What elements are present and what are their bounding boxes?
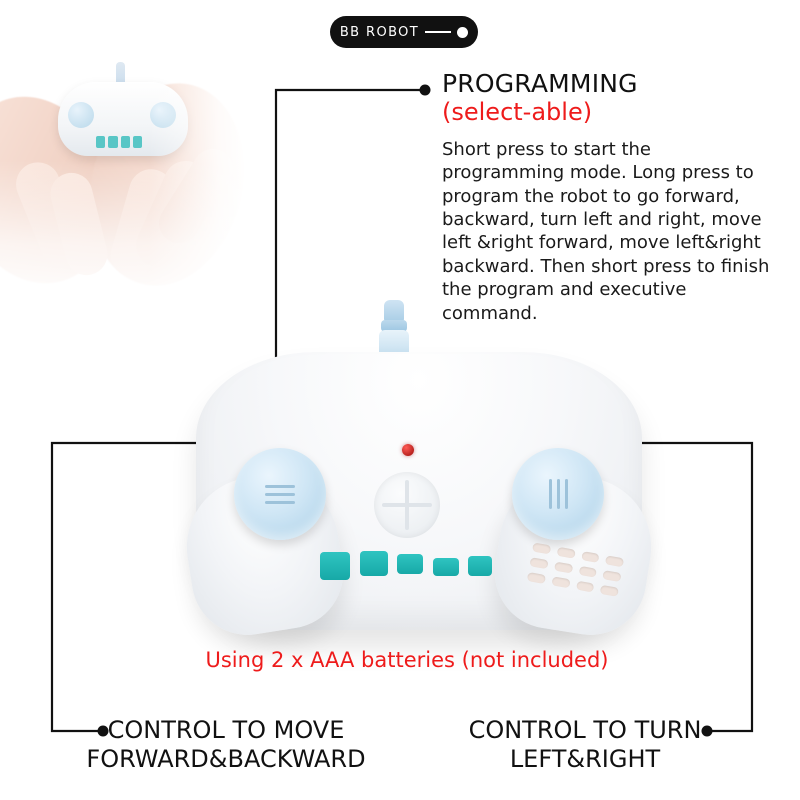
- programming-callout-subtitle: (select-able): [442, 99, 790, 126]
- programming-callout-body: Short press to start the programming mod…: [442, 138, 772, 325]
- tooth: [433, 558, 459, 576]
- tooth: [397, 554, 423, 574]
- brand-badge-label: BB ROBOT: [340, 25, 419, 40]
- logo-emblem-icon: [374, 472, 440, 538]
- dot-icon: [457, 27, 468, 38]
- battery-note: Using 2 x AAA batteries (not included): [147, 648, 667, 672]
- tooth: [320, 552, 350, 580]
- left-joystick-grooves-icon: [265, 485, 295, 504]
- programming-leader-dot-right: [420, 85, 431, 96]
- teeth-accent: [320, 550, 492, 580]
- tooth: [468, 556, 492, 576]
- programming-callout: PROGRAMMING (select-able) Short press to…: [442, 70, 790, 325]
- power-led-icon: [402, 444, 414, 456]
- right-joystick-grooves-icon: [549, 479, 568, 509]
- left-joystick[interactable]: [234, 448, 326, 540]
- photo-fade-overlay: [0, 40, 248, 302]
- right-control-label-line1: CONTROL TO TURN: [432, 716, 738, 745]
- programming-callout-title: PROGRAMMING: [442, 70, 790, 97]
- left-control-label-line2: FORWARD&BACKWARD: [66, 745, 386, 774]
- remote-control-illustration: [196, 300, 642, 630]
- right-joystick[interactable]: [512, 448, 604, 540]
- hands-holding-remote-photo: [0, 40, 248, 302]
- right-control-label-line2: LEFT&RIGHT: [432, 745, 738, 774]
- right-control-label: CONTROL TO TURN LEFT&RIGHT: [432, 716, 738, 775]
- remote-body: [196, 352, 642, 630]
- left-control-label: CONTROL TO MOVE FORWARD&BACKWARD: [66, 716, 386, 775]
- tooth: [360, 551, 388, 576]
- horizontal-line-icon: [425, 31, 451, 33]
- brand-badge: BB ROBOT: [330, 16, 478, 48]
- antenna-cap: [384, 300, 404, 322]
- left-control-label-line1: CONTROL TO MOVE: [66, 716, 386, 745]
